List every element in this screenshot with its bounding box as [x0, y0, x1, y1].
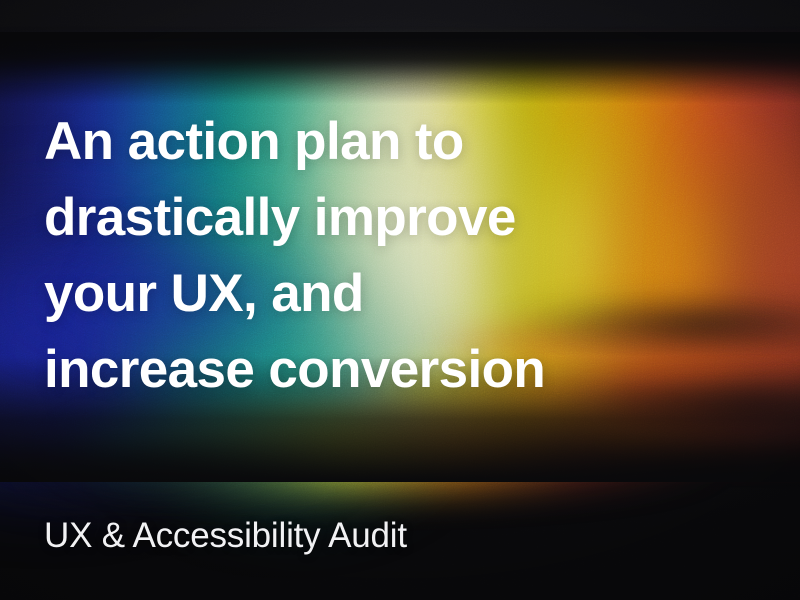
- headline-line-4: increase conversion: [44, 332, 774, 408]
- slide-content: An action plan to drastically improve yo…: [0, 0, 800, 600]
- headline-line-2: drastically improve: [44, 180, 774, 256]
- page-title: An action plan to drastically improve yo…: [44, 104, 774, 408]
- title-slide: An action plan to drastically improve yo…: [0, 0, 800, 600]
- slide-subtitle: UX & Accessibility Audit: [44, 515, 407, 557]
- headline-line-3: your UX, and: [44, 256, 774, 332]
- headline-line-1: An action plan to: [44, 104, 774, 180]
